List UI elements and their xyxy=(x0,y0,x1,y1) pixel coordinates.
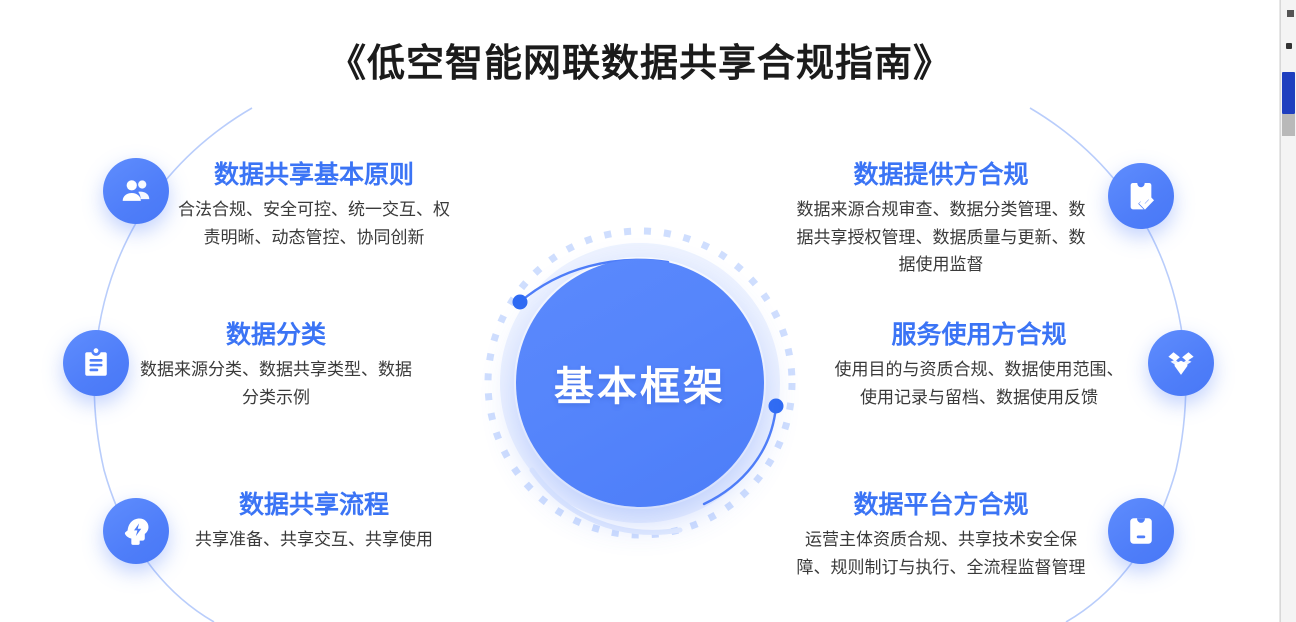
vertical-scrollbar-track[interactable] xyxy=(1280,0,1296,622)
right-item-1-heading: 数据提供方合规 xyxy=(795,160,1087,191)
right-item-3-text: 数据平台方合规 运营主体资质合规、共享技术安全保障、规则制订与执行、全流程监督管… xyxy=(795,490,1087,581)
left-item-1-text: 数据共享基本原则 合法合规、安全可控、统一交互、权责明晰、动态管控、协同创新 xyxy=(178,160,450,251)
document-check-icon xyxy=(1108,163,1174,229)
accent-dot-lower xyxy=(769,399,784,414)
right-item-3-heading: 数据平台方合规 xyxy=(795,490,1087,521)
left-item-2-heading: 数据分类 xyxy=(140,320,412,351)
scrollbar-marker-top xyxy=(1287,10,1294,17)
right-item-1-text: 数据提供方合规 数据来源合规审查、数据分类管理、数据共享授权管理、数据质量与更新… xyxy=(795,160,1087,279)
right-item-2-heading: 服务使用方合规 xyxy=(833,320,1125,351)
vertical-scrollbar-thumb[interactable] xyxy=(1282,72,1295,114)
users-icon xyxy=(103,158,169,224)
clipboard-lines-icon xyxy=(63,330,129,396)
open-box-icon xyxy=(1148,330,1214,396)
right-item-2-text: 服务使用方合规 使用目的与资质合规、数据使用范围、使用记录与留档、数据使用反馈 xyxy=(833,320,1125,411)
left-item-1-body: 合法合规、安全可控、统一交互、权责明晰、动态管控、协同创新 xyxy=(178,196,450,251)
right-item-2-body: 使用目的与资质合规、数据使用范围、使用记录与留档、数据使用反馈 xyxy=(833,356,1125,411)
center-hub-label: 基本框架 xyxy=(554,354,726,412)
scrollbar-shade xyxy=(1282,114,1295,136)
infographic-canvas: 《低空智能网联数据共享合规指南》 基本框架 xyxy=(0,0,1280,622)
left-item-3-text: 数据共享流程 共享准备、共享交互、共享使用 xyxy=(178,490,450,554)
scrollbar-marker-second xyxy=(1286,43,1292,49)
right-item-3-body: 运营主体资质合规、共享技术安全保障、规则制订与执行、全流程监督管理 xyxy=(795,526,1087,581)
accent-dot-upper xyxy=(513,295,528,310)
center-hub[interactable]: 基本框架 xyxy=(516,259,764,507)
clipboard-bag-icon xyxy=(1108,498,1174,564)
right-item-1-body: 数据来源合规审查、数据分类管理、数据共享授权管理、数据质量与更新、数据使用监督 xyxy=(795,196,1087,279)
brain-bolt-icon xyxy=(103,498,169,564)
left-item-2-body: 数据来源分类、数据共享类型、数据分类示例 xyxy=(140,356,412,411)
left-item-3-body: 共享准备、共享交互、共享使用 xyxy=(178,526,450,554)
left-item-2-text: 数据分类 数据来源分类、数据共享类型、数据分类示例 xyxy=(140,320,412,411)
left-item-3-heading: 数据共享流程 xyxy=(178,490,450,521)
left-item-1-heading: 数据共享基本原则 xyxy=(178,160,450,191)
